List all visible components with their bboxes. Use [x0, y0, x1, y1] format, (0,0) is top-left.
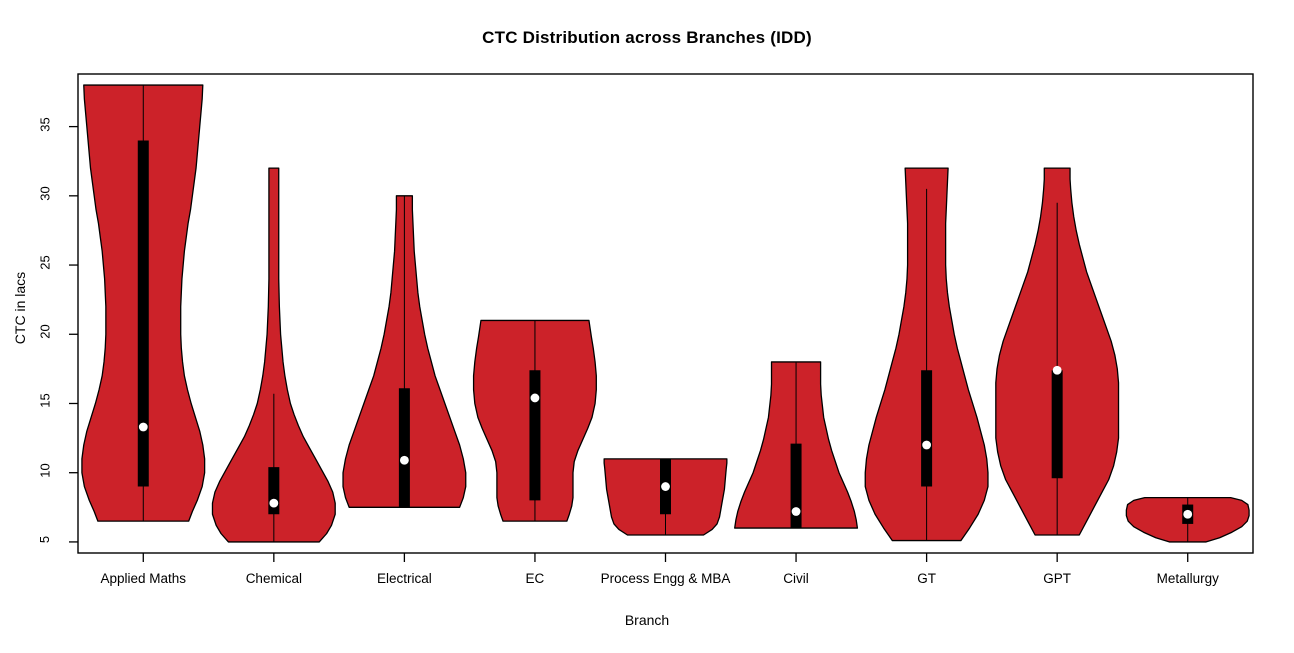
y-tick-label-text: 30: [38, 186, 53, 200]
y-tick-label-text: 5: [37, 536, 52, 543]
x-tick-label: Process Engg & MBA: [601, 571, 731, 586]
x-tick-label: Applied Maths: [100, 571, 186, 586]
y-tick-label-text: 35: [38, 117, 53, 131]
y-tick-label: 25: [28, 255, 62, 270]
x-tick-label: Metallurgy: [1157, 571, 1219, 586]
median-point: [400, 456, 409, 465]
x-tick-label: Chemical: [246, 571, 302, 586]
median-point: [1183, 510, 1192, 519]
y-tick-label-text: 10: [38, 463, 53, 477]
plot-area: [0, 0, 1294, 653]
y-tick-label: 35: [28, 117, 62, 132]
median-point: [792, 507, 801, 516]
y-tick-label-text: 20: [38, 325, 53, 339]
median-point: [661, 482, 670, 491]
median-point: [922, 441, 931, 450]
median-point: [1053, 366, 1062, 375]
y-tick-label: 30: [28, 186, 62, 201]
x-tick-label: Electrical: [377, 571, 432, 586]
y-tick-label: 10: [28, 463, 62, 478]
y-tick-label-text: 15: [38, 394, 53, 408]
median-point: [531, 394, 540, 403]
violin-chart: CTC Distribution across Branches (IDD) C…: [0, 0, 1294, 653]
y-tick-label-text: 25: [38, 255, 53, 269]
x-tick-label: EC: [526, 571, 545, 586]
x-tick-label: GT: [917, 571, 936, 586]
y-tick-label: 5: [28, 532, 62, 547]
x-tick-label: Civil: [783, 571, 809, 586]
y-tick-label: 20: [28, 324, 62, 339]
y-tick-label: 15: [28, 393, 62, 408]
median-point: [139, 423, 148, 432]
x-tick-label: GPT: [1043, 571, 1071, 586]
median-point: [269, 499, 278, 508]
